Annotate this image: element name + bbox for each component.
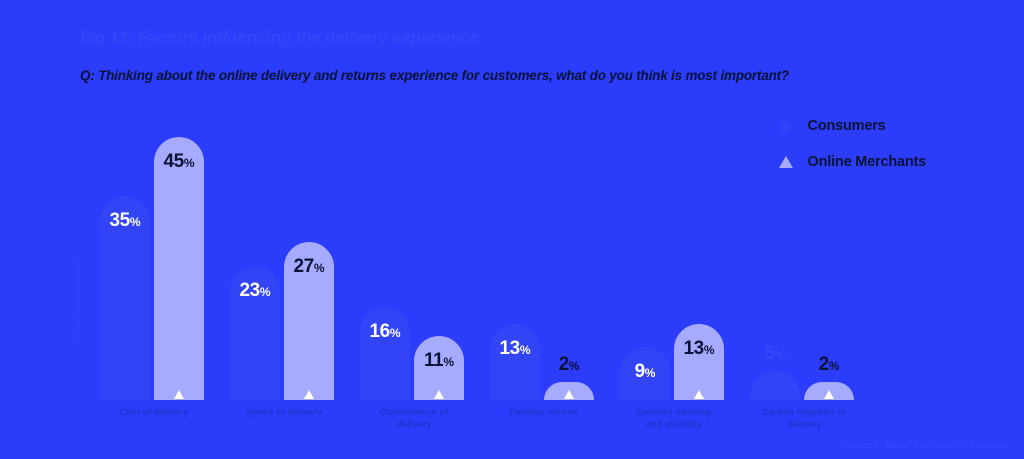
bar-value-label: 2%	[819, 355, 840, 374]
bar-value-label: 35%	[109, 211, 140, 230]
x-axis-category-label: Convenience ofdelivery	[356, 406, 472, 430]
bar-group: 9%13%Delivery trackingand visibility	[616, 100, 732, 400]
bar-merchants[interactable]	[674, 324, 724, 400]
bar-value-label: 2%	[559, 355, 580, 374]
source-note: Source: Retail Economics Analysis	[846, 440, 1008, 451]
bar-group: 13%2%Flexible returns	[486, 100, 602, 400]
bar-value-label: 27%	[293, 257, 324, 276]
chart-subtitle: Q: Thinking about the online delivery an…	[80, 68, 789, 83]
triangle-marker-icon	[174, 373, 184, 391]
x-axis-category-label: Delivery trackingand visibility	[616, 406, 732, 430]
triangle-marker-icon	[694, 373, 704, 391]
page-title: Fig 17: Factors influencing the delivery…	[80, 28, 479, 48]
bar-merchants[interactable]	[154, 137, 204, 400]
x-axis-category-label: Carbon footprint ofdelivery	[746, 406, 862, 430]
bar-value-label: 16%	[369, 322, 400, 341]
bar-group: 23%27%Speed of delivery	[226, 100, 342, 400]
bar-group: 5%2%Carbon footprint ofdelivery	[746, 100, 862, 400]
bar-value-label: 45%	[163, 152, 194, 171]
bar-group: 35%45%Cost of delivery	[96, 100, 212, 400]
bar-value-label: 13%	[683, 339, 714, 358]
bar-value-label: 13%	[499, 339, 530, 358]
bar-merchants[interactable]	[804, 382, 854, 400]
x-axis-category-label: Speed of delivery	[226, 406, 342, 418]
bar-consumers[interactable]	[750, 371, 800, 400]
bar-merchants[interactable]	[544, 382, 594, 400]
bar-value-label: 23%	[239, 281, 270, 300]
triangle-marker-icon	[824, 373, 834, 391]
bar-chart-plot-area: 35%45%Cost of delivery23%27%Speed of del…	[96, 100, 896, 400]
bar-value-label: 11%	[424, 351, 454, 370]
bar-value-label: 9%	[635, 362, 656, 381]
bar-group: 16%11%Convenience ofdelivery	[356, 100, 472, 400]
x-axis-category-label: Cost of delivery	[96, 406, 212, 418]
x-axis-category-label: Flexible returns	[486, 406, 602, 418]
bar-value-label: 5%	[765, 344, 786, 363]
triangle-marker-icon	[434, 373, 444, 391]
triangle-marker-icon	[304, 373, 314, 391]
y-axis-label: % of respondents	[72, 200, 82, 340]
bar-consumers[interactable]	[490, 324, 540, 400]
triangle-marker-icon	[564, 373, 574, 391]
